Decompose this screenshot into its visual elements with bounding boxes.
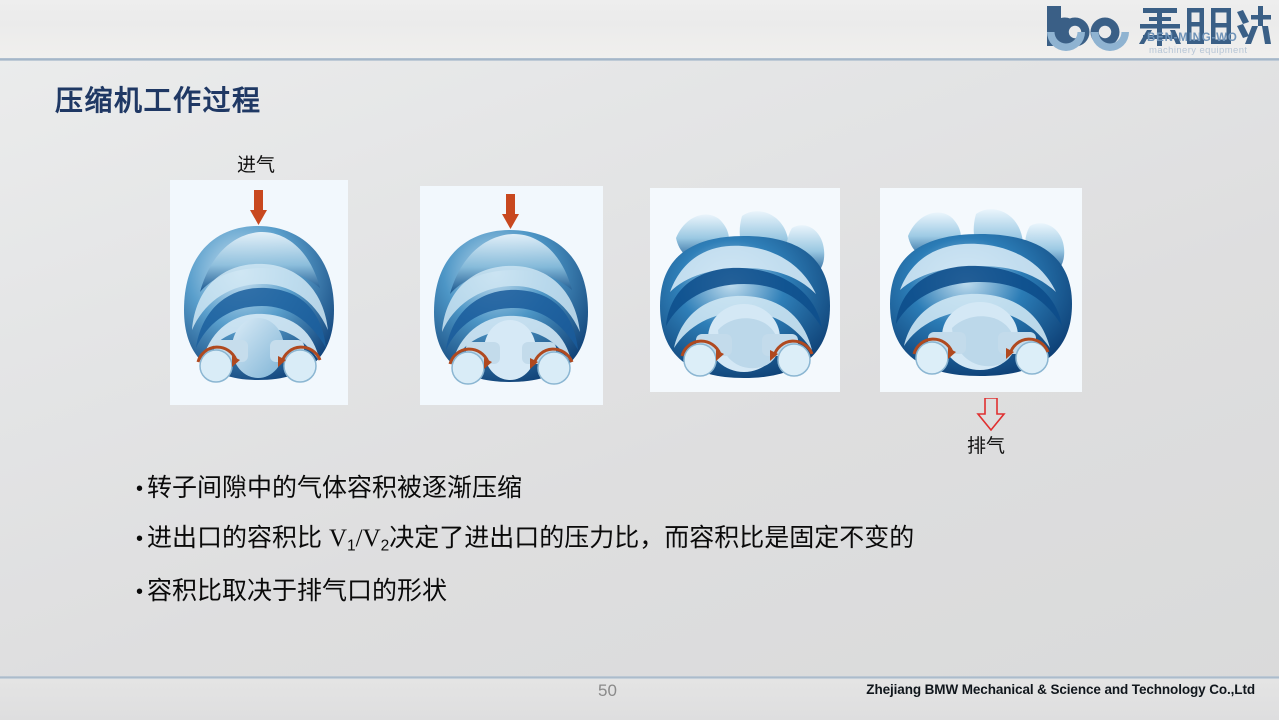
exhaust-arrow-icon bbox=[973, 398, 1009, 432]
bullet-marker: • bbox=[136, 529, 147, 549]
rotor-stage-3-image bbox=[650, 188, 840, 392]
exhaust-label: 排气 bbox=[967, 431, 1005, 458]
logo-brand-en: BEN-MING-WO bbox=[1147, 32, 1238, 44]
bullet-item-3: •容积比取决于排气口的形状 bbox=[136, 579, 1136, 604]
volume-ratio-v2-subscript: 2 bbox=[381, 537, 390, 554]
logo-tagline: machinery equipment bbox=[1149, 45, 1247, 56]
page-number: 50 bbox=[598, 681, 617, 701]
bullet-text-3: 容积比取决于排气口的形状 bbox=[147, 577, 447, 605]
rotor-stage-1-image bbox=[170, 180, 348, 405]
bullet-item-2: •进出口的容积比 V1/V2决定了进出口的压力比，而容积比是固定不变的 bbox=[136, 526, 1136, 554]
footer-company-name: Zhejiang BMW Mechanical & Science and Te… bbox=[866, 682, 1255, 697]
bullet-text-2-pre: 进出口的容积比 bbox=[147, 524, 329, 552]
rotor-stage-2-image bbox=[420, 186, 603, 405]
volume-ratio-v1-subscript: 1 bbox=[347, 537, 356, 554]
bullet-item-1: •转子间隙中的气体容积被逐渐压缩 bbox=[136, 476, 1136, 501]
bullet-text-2-post: 决定了进出口的压力比，而容积比是固定不变的 bbox=[389, 524, 914, 552]
bullet-marker: • bbox=[136, 479, 147, 499]
bullet-text-1: 转子间隙中的气体容积被逐渐压缩 bbox=[147, 474, 522, 502]
volume-ratio-v1: V bbox=[329, 525, 347, 552]
volume-ratio-slash-v2: /V bbox=[356, 525, 381, 552]
page-title: 压缩机工作过程 bbox=[55, 79, 262, 119]
slide: BEN-MING-WO machinery equipment 压缩机工作过程 … bbox=[0, 0, 1279, 720]
company-logo: BEN-MING-WO machinery equipment bbox=[1039, 2, 1271, 58]
bullet-list: •转子间隙中的气体容积被逐渐压缩 •进出口的容积比 V1/V2决定了进出口的压力… bbox=[136, 476, 1136, 629]
header-divider bbox=[0, 58, 1279, 61]
intake-label: 进气 bbox=[237, 150, 275, 177]
bullet-marker: • bbox=[136, 582, 147, 602]
rotor-stage-4-image bbox=[880, 188, 1082, 392]
